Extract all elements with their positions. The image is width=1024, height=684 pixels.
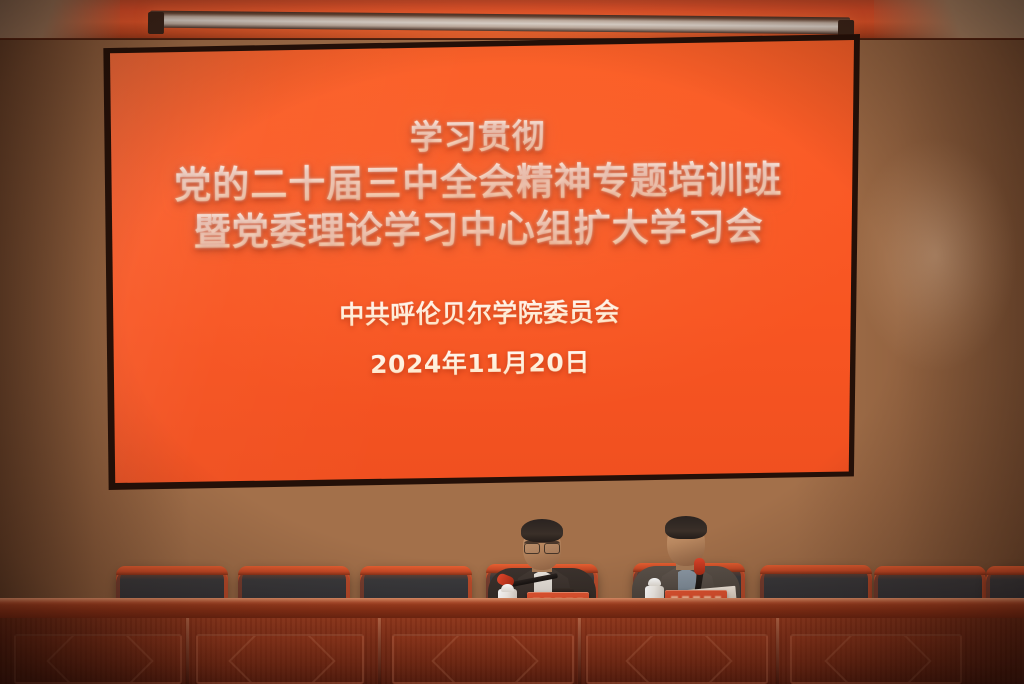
microphone-right-head-icon xyxy=(694,558,705,575)
person-left-hair xyxy=(521,519,563,542)
light-fixture-left-end xyxy=(148,12,164,34)
conference-hall-photo: 学习贯彻 党的二十届三中全会精神专题培训班 暨党委理论学习中心组扩大学习会 中共… xyxy=(0,0,1024,684)
person-left-glasses xyxy=(524,541,560,550)
table-seam-2 xyxy=(378,618,381,684)
table-panel-3 xyxy=(392,634,574,684)
led-screen xyxy=(104,40,854,483)
table-seam-3 xyxy=(578,618,581,684)
cup-left-lid xyxy=(501,584,514,592)
table-seam-4 xyxy=(776,618,779,684)
person-right-hair xyxy=(665,516,707,539)
table-seam-1 xyxy=(186,618,189,684)
table-panel-2 xyxy=(196,634,364,684)
table-panel-1 xyxy=(14,634,182,684)
cup-right-lid xyxy=(648,578,661,586)
table-panel-5 xyxy=(790,634,962,684)
table-panel-4 xyxy=(586,634,768,684)
wall-light-highlight xyxy=(850,120,1024,420)
presidium-table-top-sheen xyxy=(0,598,1024,605)
